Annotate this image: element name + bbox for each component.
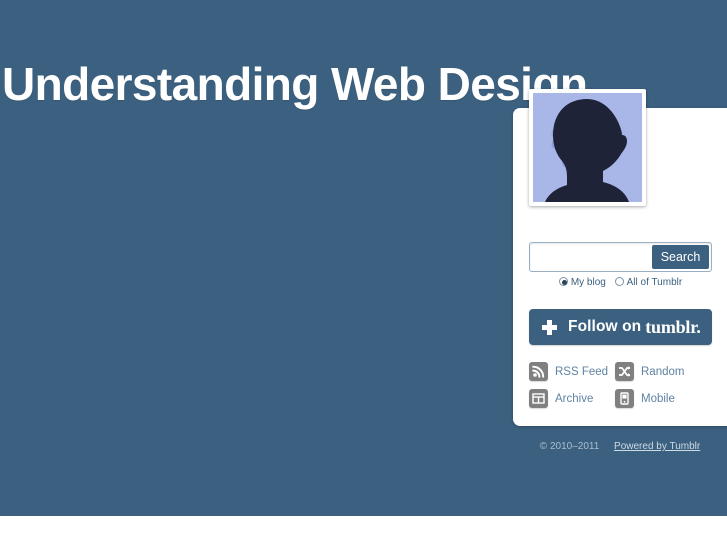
search-scope-options: My blog All of Tumblr (529, 277, 712, 288)
search-bar: Search (529, 242, 712, 272)
follow-label: Follow on (568, 318, 641, 336)
shuffle-icon (615, 362, 634, 381)
radio-my-blog-label: My blog (571, 277, 606, 288)
link-archive-label: Archive (555, 393, 593, 405)
follow-on-tumblr-button[interactable]: Follow on tumblr. (529, 309, 712, 345)
head-silhouette-avatar (533, 93, 642, 202)
avatar (529, 89, 646, 206)
radio-unselected-icon (615, 277, 624, 286)
radio-all-of-tumblr[interactable]: All of Tumblr (615, 277, 683, 288)
radio-my-blog[interactable]: My blog (559, 277, 606, 288)
link-random-label: Random (641, 366, 684, 378)
copyright-text: © 2010–2011 (540, 441, 599, 452)
search-button[interactable]: Search (652, 245, 709, 269)
sidebar-links: RSS Feed Random (529, 362, 712, 416)
phone-icon (615, 389, 634, 408)
link-mobile-label: Mobile (641, 393, 675, 405)
radio-all-of-tumblr-label: All of Tumblr (627, 277, 683, 288)
rss-icon (529, 362, 548, 381)
link-random[interactable]: Random (615, 362, 701, 381)
link-row: Archive Mobile (529, 389, 712, 408)
search-input[interactable] (530, 243, 652, 271)
grid-icon (529, 389, 548, 408)
link-row: RSS Feed Random (529, 362, 712, 381)
link-archive[interactable]: Archive (529, 389, 615, 408)
tumblr-wordmark: tumblr. (645, 317, 700, 338)
link-rss-feed[interactable]: RSS Feed (529, 362, 615, 381)
page-root: Understanding Web Design Search (0, 0, 727, 545)
link-rss-feed-label: RSS Feed (555, 366, 608, 378)
link-mobile[interactable]: Mobile (615, 389, 701, 408)
page-title: Understanding Web Design (2, 55, 587, 113)
radio-selected-icon (559, 277, 568, 286)
plus-icon (542, 320, 557, 335)
powered-by-tumblr-link[interactable]: Powered by Tumblr (614, 441, 700, 452)
footer: © 2010–2011 Powered by Tumblr (513, 441, 727, 452)
